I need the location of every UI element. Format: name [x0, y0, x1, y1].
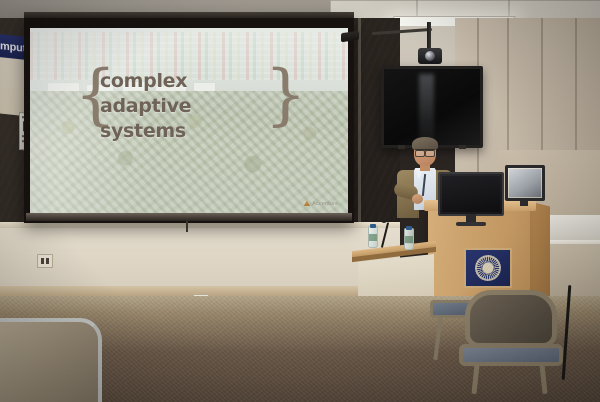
slide-logo: Accenture [303, 200, 338, 207]
university-crest-icon [475, 255, 501, 281]
podium-monitor[interactable] [438, 172, 504, 216]
wall-mounted-display[interactable] [381, 66, 483, 148]
secondary-screen-surface [509, 169, 541, 197]
screen-bottom-bar [26, 213, 352, 221]
slide-logo-label: Accenture [312, 201, 338, 207]
lecture-hall-photo: mputing { } complex adaptive [0, 0, 600, 402]
foreground-chair[interactable] [0, 318, 106, 402]
chalkboard-divider [358, 18, 361, 223]
projection-screen: { } complex adaptive systems Accenture [30, 28, 348, 213]
display-glare [419, 74, 434, 141]
classroom-chair[interactable] [455, 290, 565, 402]
chair-back [0, 318, 102, 402]
slide-line-2: adaptive [100, 94, 291, 119]
chair-back [465, 290, 557, 348]
wall-outlet[interactable] [37, 254, 53, 268]
camera-mount-pole [427, 22, 431, 50]
chair-leg [539, 364, 547, 394]
screen-pull-cord[interactable] [186, 221, 188, 232]
water-bottle[interactable] [404, 228, 414, 250]
secondary-podium-screen[interactable] [505, 165, 545, 201]
chair-leg [471, 364, 479, 394]
monitor-base [456, 222, 486, 226]
water-bottle[interactable] [368, 226, 378, 248]
secondary-screen-stand [520, 198, 528, 206]
chair-seat [459, 344, 563, 366]
eyeglasses-icon [415, 149, 435, 155]
video-conference-camera [418, 48, 442, 64]
slide-title-block: complex adaptive systems [100, 69, 291, 144]
slide-line-1: complex [100, 69, 291, 94]
monitor-screen [442, 176, 500, 212]
microphone-head [381, 218, 387, 223]
chair-leg [433, 316, 442, 360]
presenter-hand [412, 194, 423, 204]
slide-line-3: systems [100, 119, 291, 144]
logo-mark-icon [303, 200, 310, 206]
back-wall-lower [0, 228, 400, 288]
camera-lens-icon [425, 51, 435, 61]
display-foot [459, 145, 466, 149]
podium-seal [464, 248, 512, 288]
